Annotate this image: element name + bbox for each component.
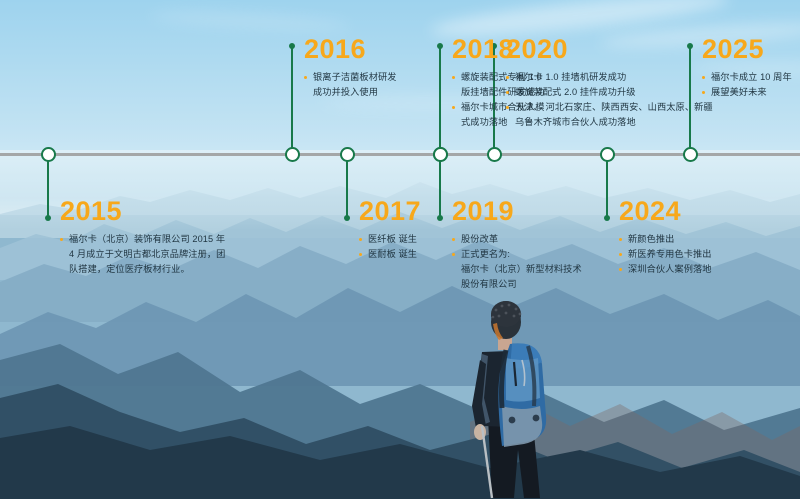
entry-year-label: 2015	[60, 198, 225, 225]
node-stem	[606, 154, 608, 218]
bullet-item: 医纤板 诞生	[359, 232, 421, 247]
bullet-item: 股份改革	[452, 232, 582, 247]
timeline-entry-2024[interactable]: 2024新颜色推出新医养专用色卡推出深圳合伙人案例落地	[619, 198, 712, 277]
node-ring-marker[interactable]	[340, 147, 355, 162]
node-ring-marker[interactable]	[285, 147, 300, 162]
timeline-entry-2016[interactable]: 2016银离子洁菌板材研发成功并投入使用	[304, 36, 397, 100]
bullet-item: 福尔卡成立 10 周年	[702, 70, 792, 85]
node-ring-marker[interactable]	[41, 147, 56, 162]
bullet-item: 医耐板 诞生	[359, 247, 421, 262]
timeline-overlay: 2015福尔卡（北京）装饰有限公司 2015 年4 月成立于文明古都北京品牌注册…	[0, 0, 800, 499]
node-endpoint-dot	[437, 215, 443, 221]
entry-bullet-list: 福尔卡成立 10 周年展望美好未来	[702, 70, 792, 100]
bullet-item-continuation: 乌鲁木齐城市合伙人成功落地	[506, 115, 713, 130]
entry-bullet-list: 医纤板 诞生医耐板 诞生	[359, 232, 421, 262]
node-endpoint-dot	[45, 215, 51, 221]
node-endpoint-dot	[604, 215, 610, 221]
bullet-item: 天津、 河北石家庄、陕西西安、山西太原、新疆	[506, 100, 713, 115]
node-endpoint-dot	[437, 43, 443, 49]
entry-bullet-list: 福尔卡 1.0 挂墙机研发成功螺旋装配式 2.0 挂件成功升级天津、 河北石家庄…	[506, 70, 713, 130]
timeline-entry-2020[interactable]: 2020福尔卡 1.0 挂墙机研发成功螺旋装配式 2.0 挂件成功升级天津、 河…	[506, 36, 713, 130]
bullet-item-continuation: 队搭建，定位医疗板材行业。	[60, 262, 225, 277]
timeline-entry-2025[interactable]: 2025福尔卡成立 10 周年展望美好未来	[702, 36, 792, 100]
node-endpoint-dot	[344, 215, 350, 221]
bullet-item: 展望美好未来	[702, 85, 792, 100]
node-stem	[439, 154, 441, 218]
node-ring-marker[interactable]	[487, 147, 502, 162]
bullet-item: 银离子洁菌板材研发	[304, 70, 397, 85]
bullet-item-continuation: 股份有限公司	[452, 277, 582, 292]
bullet-item: 深圳合伙人案例落地	[619, 262, 712, 277]
node-ring-marker[interactable]	[433, 147, 448, 162]
bullet-item: 螺旋装配式 2.0 挂件成功升级	[506, 85, 713, 100]
entry-year-label: 2019	[452, 198, 582, 225]
bullet-item: 福尔卡 1.0 挂墙机研发成功	[506, 70, 713, 85]
bullet-item: 福尔卡（北京）装饰有限公司 2015 年	[60, 232, 225, 247]
entry-bullet-list: 新颜色推出新医养专用色卡推出深圳合伙人案例落地	[619, 232, 712, 277]
bullet-item-continuation: 成功并投入使用	[304, 85, 397, 100]
entry-year-label: 2016	[304, 36, 397, 63]
bullet-item-continuation: 4 月成立于文明古都北京品牌注册，团	[60, 247, 225, 262]
node-ring-marker[interactable]	[683, 147, 698, 162]
timeline-entry-2019[interactable]: 2019股份改革正式更名为:福尔卡（北京）新型材料技术股份有限公司	[452, 198, 582, 292]
node-stem	[346, 154, 348, 218]
node-stem	[439, 46, 441, 154]
entry-year-label: 2020	[506, 36, 713, 63]
entry-year-label: 2025	[702, 36, 792, 63]
bullet-item: 新颜色推出	[619, 232, 712, 247]
entry-year-label: 2024	[619, 198, 712, 225]
timeline-entry-2015[interactable]: 2015福尔卡（北京）装饰有限公司 2015 年4 月成立于文明古都北京品牌注册…	[60, 198, 225, 277]
entry-bullet-list: 福尔卡（北京）装饰有限公司 2015 年4 月成立于文明古都北京品牌注册，团队搭…	[60, 232, 225, 277]
entry-bullet-list: 银离子洁菌板材研发成功并投入使用	[304, 70, 397, 100]
timeline-axis	[0, 153, 800, 156]
node-endpoint-dot	[289, 43, 295, 49]
entry-bullet-list: 股份改革正式更名为:福尔卡（北京）新型材料技术股份有限公司	[452, 232, 582, 292]
node-stem	[47, 154, 49, 218]
node-ring-marker[interactable]	[600, 147, 615, 162]
bullet-item: 正式更名为:	[452, 247, 582, 262]
bullet-item: 新医养专用色卡推出	[619, 247, 712, 262]
node-stem	[291, 46, 293, 154]
timeline-entry-2017[interactable]: 2017医纤板 诞生医耐板 诞生	[359, 198, 421, 262]
entry-year-label: 2017	[359, 198, 421, 225]
bullet-item-continuation: 福尔卡（北京）新型材料技术	[452, 262, 582, 277]
